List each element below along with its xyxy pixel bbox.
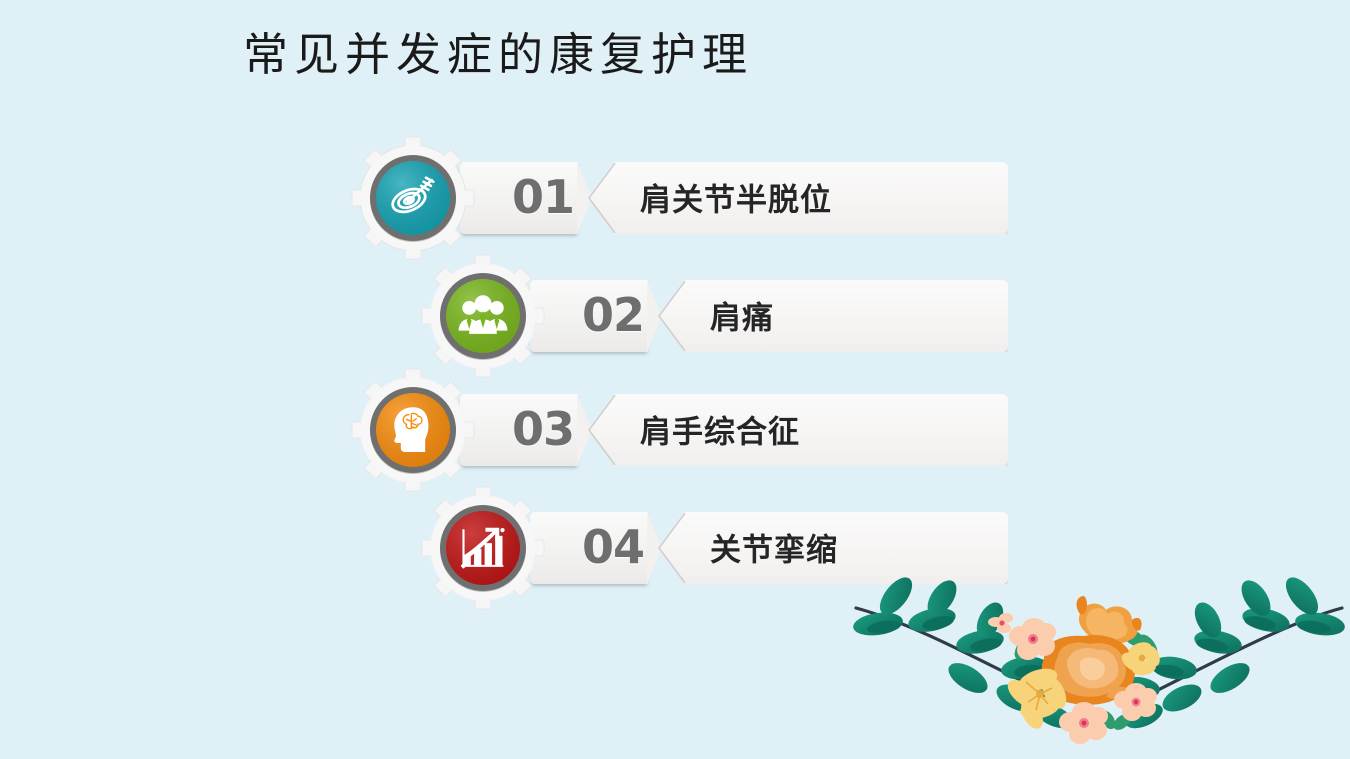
target-arrow-icon bbox=[373, 158, 453, 238]
item-label: 肩关节半脱位 bbox=[640, 175, 832, 220]
item-number: 04 bbox=[582, 520, 644, 574]
gear-badge[interactable] bbox=[418, 251, 548, 381]
gear-badge[interactable] bbox=[418, 483, 548, 613]
item-label: 肩痛 bbox=[710, 293, 774, 338]
chevron-notch-icon bbox=[588, 162, 618, 234]
item-number: 02 bbox=[582, 288, 644, 342]
item-number: 01 bbox=[512, 170, 574, 224]
row-bar: 03 肩手综合征 bbox=[460, 394, 1008, 466]
page-title: 常见并发症的康复护理 bbox=[243, 24, 753, 86]
text-bar[interactable]: 肩痛 bbox=[658, 280, 1008, 352]
chevron-notch-icon bbox=[658, 280, 688, 352]
row-bar: 01 肩关节半脱位 bbox=[460, 162, 1008, 234]
chevron-notch-icon bbox=[588, 394, 618, 466]
growth-bar-chart-icon bbox=[443, 508, 523, 588]
item-number: 03 bbox=[512, 402, 574, 456]
gear-badge[interactable] bbox=[348, 133, 478, 263]
gear-badge[interactable] bbox=[348, 365, 478, 495]
team-people-icon bbox=[443, 276, 523, 356]
item-label: 肩手综合征 bbox=[640, 407, 800, 452]
chevron-notch-icon bbox=[658, 512, 688, 584]
row-bar: 02 肩痛 bbox=[530, 280, 1008, 352]
slide-canvas: 常见并发症的康复护理 01 肩关节半脱位 bbox=[0, 0, 1350, 759]
text-bar[interactable]: 肩手综合征 bbox=[588, 394, 1008, 466]
text-bar[interactable]: 肩关节半脱位 bbox=[588, 162, 1008, 234]
head-brain-icon bbox=[373, 390, 453, 470]
list-item[interactable]: 02 肩痛 bbox=[418, 258, 1008, 388]
floral-wreath-decoration bbox=[848, 570, 1350, 755]
item-label: 关节挛缩 bbox=[710, 525, 838, 570]
